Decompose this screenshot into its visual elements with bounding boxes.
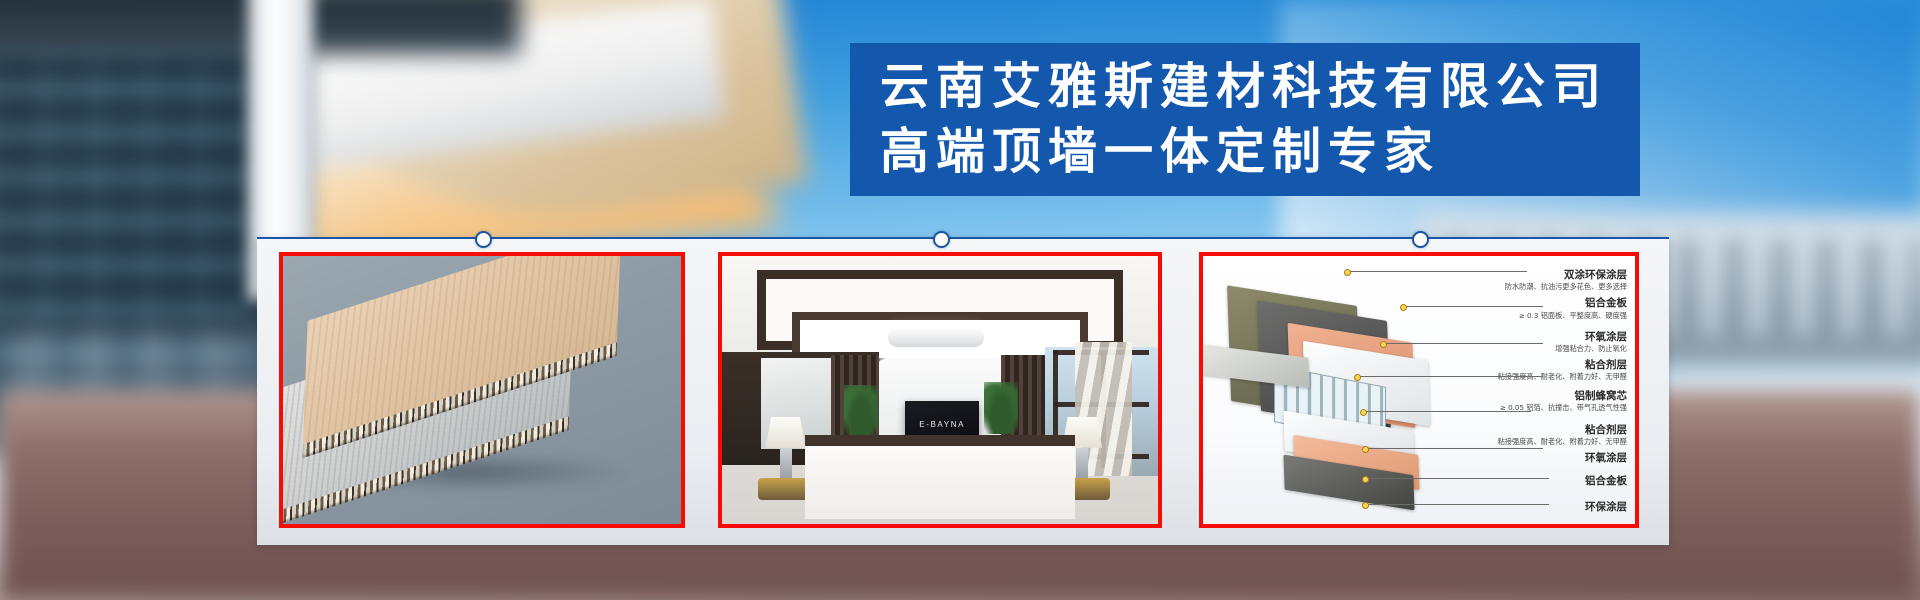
- layer-label-9: 环保涂层: [1454, 501, 1627, 514]
- ceiling-light: [888, 328, 984, 347]
- hanger-dot-3: [1412, 231, 1429, 248]
- lamp-base-left: [780, 448, 792, 478]
- layer-8-name: 铝合金板: [1454, 475, 1627, 488]
- leader-line-1: [1346, 271, 1527, 272]
- display-screen-logo: E-BAYNA: [919, 420, 965, 429]
- layer-5-name: 铝制蜂窝芯: [1454, 390, 1627, 403]
- layer-2-desc: ≥ 0.3 铝面板、平整度高、硬度强: [1454, 311, 1627, 320]
- banner-stage: 云南艾雅斯建材科技有限公司 高端顶墙一体定制专家: [0, 0, 1920, 600]
- lamp-shade-left: [766, 417, 806, 448]
- layer-diagram: 双涂环保涂层 防水防潮、抗油污更多花色、更多选择 铝合金板 ≥ 0.3 铝面板、…: [1203, 256, 1635, 524]
- layer-label-2: 铝合金板 ≥ 0.3 铝面板、平整度高、硬度强: [1454, 297, 1627, 319]
- gallery-rail: [257, 237, 1669, 239]
- layer-3-desc: 增强粘合力、防止氧化: [1454, 344, 1627, 353]
- layer-9-name: 环保涂层: [1454, 501, 1627, 514]
- layer-4-name: 粘合剂层: [1454, 359, 1627, 372]
- layer-label-7: 环氧涂层: [1454, 452, 1627, 465]
- company-name: 云南艾雅斯建材科技有限公司: [880, 55, 1640, 120]
- layer-label-8: 铝合金板: [1454, 475, 1627, 488]
- layer-7-name: 环氧涂层: [1454, 452, 1627, 465]
- gallery-item-honeycomb-panels[interactable]: [279, 252, 685, 528]
- lamp-base-right: [1076, 448, 1088, 478]
- leader-line-5: [1362, 411, 1531, 412]
- plant-left: [844, 385, 878, 437]
- leader-line-7: [1364, 478, 1549, 479]
- hanger-dot-2: [933, 231, 950, 248]
- leader-line-4: [1356, 376, 1543, 377]
- leader-line-6: [1364, 448, 1543, 449]
- interior-photo: E-BAYNA: [722, 256, 1158, 524]
- layer-label-4: 粘合剂层 粘接强度高、耐老化、附着力好、无甲醛: [1454, 359, 1627, 381]
- leader-line-2: [1402, 306, 1543, 307]
- company-slogan: 高端顶墙一体定制专家: [880, 120, 1640, 185]
- layer-6-name: 粘合剂层: [1454, 424, 1627, 437]
- gallery-item-interior-reception[interactable]: E-BAYNA: [718, 252, 1162, 528]
- table-lamp-left: [766, 417, 806, 500]
- gallery-item-layer-structure[interactable]: 双涂环保涂层 防水防潮、抗油污更多花色、更多选择 铝合金板 ≥ 0.3 铝面板、…: [1199, 252, 1639, 528]
- plant-right: [984, 382, 1018, 434]
- layer-6-desc: 粘接强度高、耐老化、附着力好、无甲醛: [1454, 437, 1627, 446]
- leader-line-8: [1364, 504, 1549, 505]
- leader-line-3: [1382, 343, 1543, 344]
- layer-label-list: 双涂环保涂层 防水防潮、抗油污更多花色、更多选择 铝合金板 ≥ 0.3 铝面板、…: [1454, 264, 1627, 521]
- layer-label-6: 粘合剂层 粘接强度高、耐老化、附着力好、无甲醛: [1454, 424, 1627, 446]
- glass-tower-facade: [0, 40, 250, 380]
- layer-1-desc: 防水防潮、抗油污更多花色、更多选择: [1454, 282, 1627, 291]
- reception-desk: [805, 435, 1075, 518]
- headline-plaque: 云南艾雅斯建材科技有限公司 高端顶墙一体定制专家: [850, 43, 1640, 196]
- layer-2-name: 铝合金板: [1454, 297, 1627, 310]
- layer-label-5: 铝制蜂窝芯 ≥ 0.05 铝箔、抗撞击、带气孔透气性强: [1454, 390, 1627, 412]
- hanger-dot-1: [475, 231, 492, 248]
- layer-label-1: 双涂环保涂层 防水防潮、抗油污更多花色、更多选择: [1454, 269, 1627, 291]
- honeycomb-photo: [283, 256, 681, 524]
